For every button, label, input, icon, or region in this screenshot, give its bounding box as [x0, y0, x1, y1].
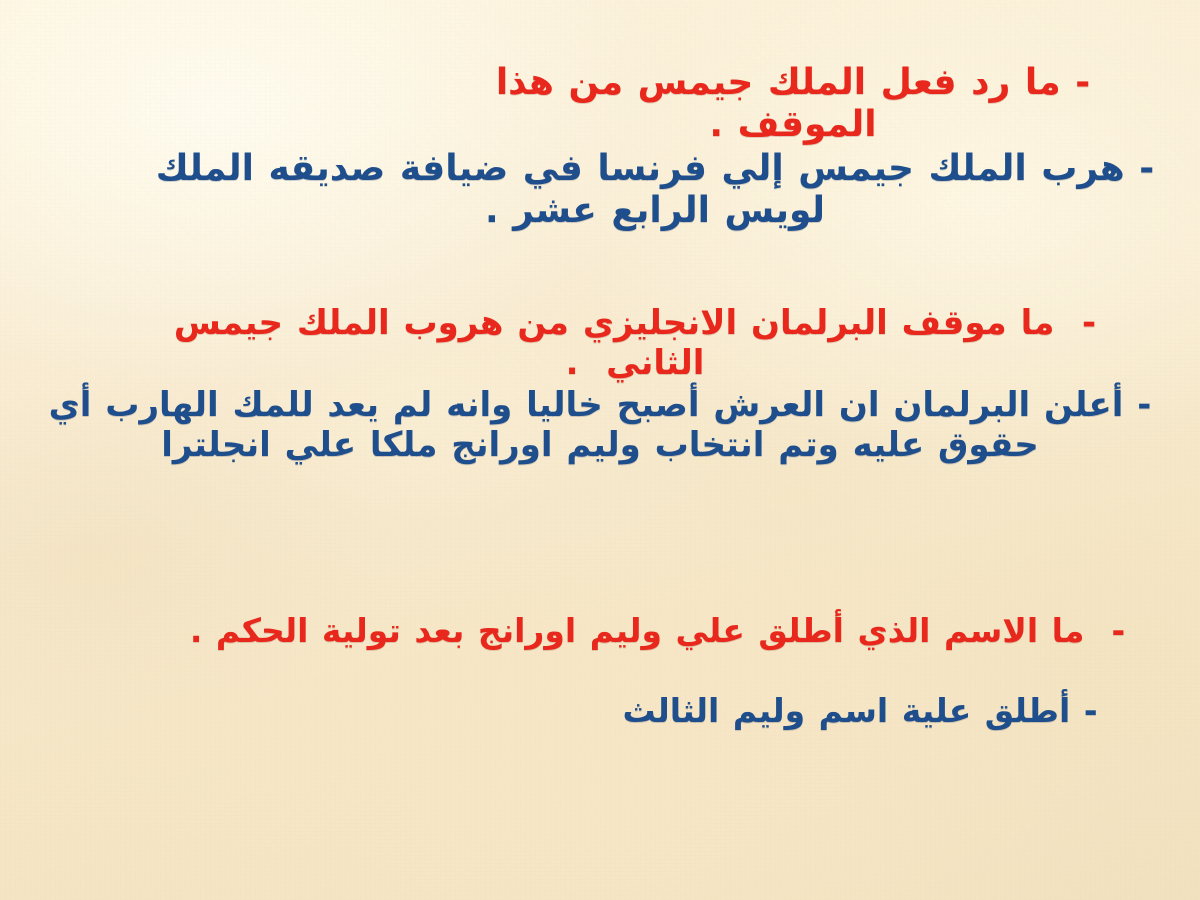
- answer-line-3: - أطلق علية اسم وليم الثالث: [560, 692, 1160, 731]
- question-line-1: - ما رد فعل الملك جيمس من هذا الموقف .: [420, 62, 1166, 147]
- slide-content: - ما رد فعل الملك جيمس من هذا الموقف . -…: [0, 0, 1200, 900]
- answer-line-1: - هرب الملك جيمس إلي فرنسا في ضيافة صديق…: [150, 148, 1160, 233]
- answer-line-2: - أعلن البرلمان ان العرش أصبح خاليا وانه…: [36, 385, 1164, 465]
- question-line-2: - ما موقف البرلمان الانجليزي من هروب الم…: [125, 303, 1145, 383]
- question-line-3: - ما الاسم الذي أطلق علي وليم اورانج بعد…: [170, 612, 1145, 651]
- slide-canvas: - ما رد فعل الملك جيمس من هذا الموقف . -…: [0, 0, 1200, 900]
